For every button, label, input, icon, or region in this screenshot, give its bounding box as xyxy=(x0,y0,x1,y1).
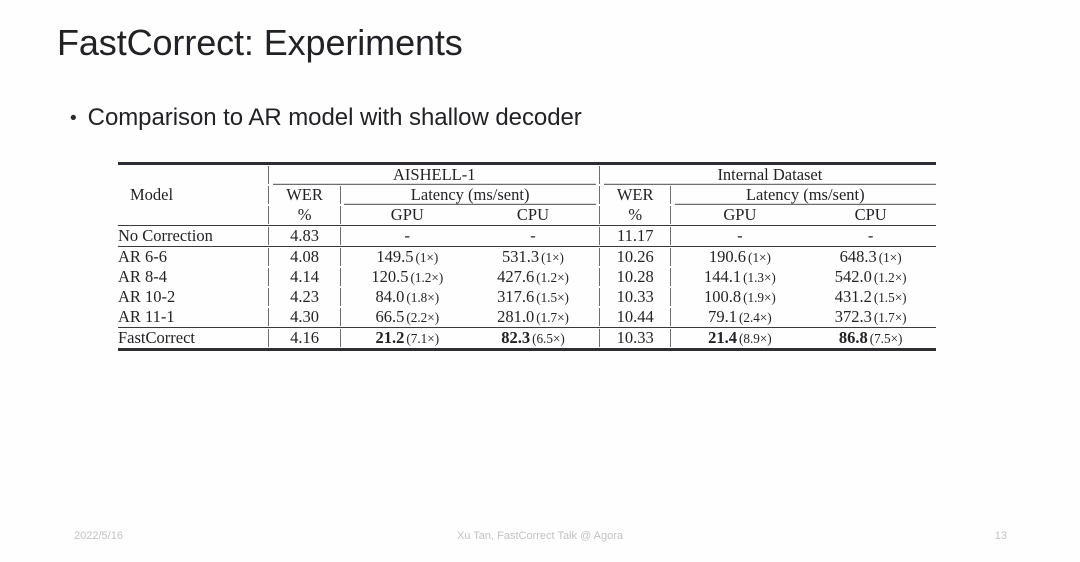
slide: FastCorrect: Experiments • Comparison to… xyxy=(0,0,1080,562)
speedup: (1×) xyxy=(748,250,771,265)
results-table: Model AISHELL-1 Internal Dataset WER Lat… xyxy=(118,162,936,351)
row-vsep-2 xyxy=(337,226,345,247)
speedup: (1.3×) xyxy=(743,270,776,285)
value: 82.3 xyxy=(501,328,530,347)
internal-wer-unit-header: % xyxy=(604,205,667,226)
row-vsep-4 xyxy=(667,307,675,328)
value: 190.6 xyxy=(709,247,746,266)
row-vsep-3 xyxy=(596,247,604,268)
row-internal-gpu: - xyxy=(675,226,806,247)
row-internal-gpu: 79.1(2.4×) xyxy=(675,307,806,328)
value: 431.2 xyxy=(835,287,872,306)
value: 100.8 xyxy=(704,287,741,306)
speedup: (1.5×) xyxy=(874,290,907,305)
vertical-rule-2b xyxy=(337,205,345,226)
row-internal-wer: 10.28 xyxy=(604,267,667,287)
row-internal-cpu: 648.3(1×) xyxy=(805,247,936,268)
row-internal-wer: 10.33 xyxy=(604,328,667,350)
row-aishell-wer: 4.08 xyxy=(273,247,337,268)
value: 144.1 xyxy=(704,267,741,286)
internal-latency-header: Latency (ms/sent) xyxy=(675,185,936,205)
vertical-rule-3b xyxy=(596,185,604,205)
footer-attribution: Xu Tan, FastCorrect Talk @ Agora xyxy=(0,530,1080,542)
row-aishell-cpu: - xyxy=(470,226,596,247)
speedup: (1.5×) xyxy=(536,290,569,305)
vertical-rule-1b xyxy=(265,185,273,205)
row-aishell-cpu: 82.3(6.5×) xyxy=(470,328,596,350)
row-internal-cpu: 542.0(1.2×) xyxy=(805,267,936,287)
speedup: (1×) xyxy=(415,250,438,265)
value: 648.3 xyxy=(840,247,877,266)
table-header-row-datasets: Model AISHELL-1 Internal Dataset xyxy=(118,164,936,186)
row-vsep-4 xyxy=(667,226,675,247)
row-aishell-cpu: 317.6(1.5×) xyxy=(470,287,596,307)
table-row: AR 8-4 4.14 120.5(1.2×) 427.6(1.2×) 10.2… xyxy=(118,267,936,287)
value: 281.0 xyxy=(497,307,534,326)
internal-gpu-header: GPU xyxy=(675,205,806,226)
row-vsep-4 xyxy=(667,247,675,268)
aishell-wer-unit-header: % xyxy=(273,205,337,226)
row-vsep-2 xyxy=(337,328,345,350)
table-row: No Correction 4.83 - - 11.17 - - xyxy=(118,226,936,247)
row-internal-wer: 11.17 xyxy=(604,226,667,247)
row-vsep-1 xyxy=(265,287,273,307)
row-model-label: AR 6-6 xyxy=(118,247,265,268)
value: 21.4 xyxy=(708,328,737,347)
vertical-rule-3 xyxy=(596,164,604,186)
value: 427.6 xyxy=(497,267,534,286)
row-internal-cpu: 431.2(1.5×) xyxy=(805,287,936,307)
row-aishell-wer: 4.83 xyxy=(273,226,337,247)
row-internal-cpu: 372.3(1.7×) xyxy=(805,307,936,328)
speedup: (7.5×) xyxy=(870,331,903,346)
row-vsep-1 xyxy=(265,226,273,247)
row-model-label: AR 10-2 xyxy=(118,287,265,307)
row-internal-cpu: 86.8(7.5×) xyxy=(805,328,936,350)
page-title: FastCorrect: Experiments xyxy=(57,22,463,64)
row-model-label: FastCorrect xyxy=(118,328,265,350)
vertical-rule-4 xyxy=(667,185,675,205)
table-row: AR 6-6 4.08 149.5(1×) 531.3(1×) 10.26 19… xyxy=(118,247,936,268)
row-aishell-gpu: 21.2(7.1×) xyxy=(344,328,470,350)
row-vsep-3 xyxy=(596,226,604,247)
row-aishell-cpu: 427.6(1.2×) xyxy=(470,267,596,287)
speedup: (1.7×) xyxy=(874,310,907,325)
aishell-cpu-header: CPU xyxy=(470,205,596,226)
vertical-rule-2 xyxy=(337,185,345,205)
bullet-item: • Comparison to AR model with shallow de… xyxy=(70,104,582,132)
value: 21.2 xyxy=(376,328,405,347)
row-internal-wer: 10.26 xyxy=(604,247,667,268)
vertical-rule-3c xyxy=(596,205,604,226)
speedup: (1.2×) xyxy=(411,270,444,285)
speedup: (1×) xyxy=(541,250,564,265)
row-aishell-wer: 4.16 xyxy=(273,328,337,350)
row-aishell-gpu: 149.5(1×) xyxy=(344,247,470,268)
vertical-rule-1 xyxy=(265,164,273,186)
speedup: (1×) xyxy=(879,250,902,265)
row-aishell-gpu: 66.5(2.2×) xyxy=(344,307,470,328)
row-vsep-3 xyxy=(596,267,604,287)
speedup: (6.5×) xyxy=(532,331,565,346)
bullet-text: Comparison to AR model with shallow deco… xyxy=(88,104,582,132)
row-internal-gpu: 190.6(1×) xyxy=(675,247,806,268)
aishell-wer-header: WER xyxy=(273,185,337,205)
model-header-cell: Model xyxy=(118,164,265,226)
row-aishell-wer: 4.23 xyxy=(273,287,337,307)
row-model-label: AR 8-4 xyxy=(118,267,265,287)
value: 542.0 xyxy=(835,267,872,286)
speedup: (1.2×) xyxy=(874,270,907,285)
speedup: (7.1×) xyxy=(406,331,439,346)
table-row: AR 10-2 4.23 84.0(1.8×) 317.6(1.5×) 10.3… xyxy=(118,287,936,307)
row-aishell-cpu: 531.3(1×) xyxy=(470,247,596,268)
speedup: (1.8×) xyxy=(406,290,439,305)
row-internal-cpu: - xyxy=(805,226,936,247)
row-aishell-wer: 4.14 xyxy=(273,267,337,287)
speedup: (1.9×) xyxy=(743,290,776,305)
row-vsep-1 xyxy=(265,247,273,268)
row-aishell-gpu: - xyxy=(344,226,470,247)
row-vsep-3 xyxy=(596,307,604,328)
row-vsep-2 xyxy=(337,247,345,268)
speedup: (2.2×) xyxy=(406,310,439,325)
value: 531.3 xyxy=(502,247,539,266)
aishell-gpu-header: GPU xyxy=(344,205,470,226)
speedup: (1.7×) xyxy=(536,310,569,325)
speedup: (2.4×) xyxy=(739,310,772,325)
value: 66.5 xyxy=(376,307,405,326)
dataset-group-aishell: AISHELL-1 xyxy=(273,164,596,186)
row-aishell-wer: 4.30 xyxy=(273,307,337,328)
row-model-label: No Correction xyxy=(118,226,265,247)
aishell-latency-header: Latency (ms/sent) xyxy=(344,185,595,205)
row-internal-gpu: 21.4(8.9×) xyxy=(675,328,806,350)
row-vsep-2 xyxy=(337,307,345,328)
value: 149.5 xyxy=(376,247,413,266)
value: 86.8 xyxy=(839,328,868,347)
speedup: (8.9×) xyxy=(739,331,772,346)
value: 120.5 xyxy=(371,267,408,286)
footer-page-number: 13 xyxy=(995,530,1007,542)
row-internal-wer: 10.44 xyxy=(604,307,667,328)
row-vsep-4 xyxy=(667,267,675,287)
row-model-label: AR 11-1 xyxy=(118,307,265,328)
bullet-marker-icon: • xyxy=(70,109,77,128)
vertical-rule-4b xyxy=(667,205,675,226)
row-vsep-4 xyxy=(667,328,675,350)
table-row: AR 11-1 4.30 66.5(2.2×) 281.0(1.7×) 10.4… xyxy=(118,307,936,328)
row-vsep-2 xyxy=(337,267,345,287)
row-aishell-gpu: 84.0(1.8×) xyxy=(344,287,470,307)
results-table-container: Model AISHELL-1 Internal Dataset WER Lat… xyxy=(118,162,936,351)
row-aishell-cpu: 281.0(1.7×) xyxy=(470,307,596,328)
row-vsep-1 xyxy=(265,267,273,287)
row-vsep-4 xyxy=(667,287,675,307)
row-internal-gpu: 100.8(1.9×) xyxy=(675,287,806,307)
row-vsep-2 xyxy=(337,287,345,307)
dataset-group-internal: Internal Dataset xyxy=(604,164,936,186)
row-internal-gpu: 144.1(1.3×) xyxy=(675,267,806,287)
model-header-label: Model xyxy=(118,185,265,205)
value: 79.1 xyxy=(708,307,737,326)
value: 372.3 xyxy=(835,307,872,326)
row-vsep-3 xyxy=(596,328,604,350)
slide-footer: 2022/5/16 Xu Tan, FastCorrect Talk @ Ago… xyxy=(0,530,1080,548)
vertical-rule-1c xyxy=(265,205,273,226)
value: 317.6 xyxy=(497,287,534,306)
row-internal-wer: 10.33 xyxy=(604,287,667,307)
speedup: (1.2×) xyxy=(536,270,569,285)
internal-cpu-header: CPU xyxy=(805,205,936,226)
row-vsep-3 xyxy=(596,287,604,307)
row-vsep-1 xyxy=(265,307,273,328)
internal-wer-header: WER xyxy=(604,185,667,205)
table-row-fastcorrect: FastCorrect 4.16 21.2(7.1×) 82.3(6.5×) 1… xyxy=(118,328,936,350)
row-vsep-1 xyxy=(265,328,273,350)
value: 84.0 xyxy=(376,287,405,306)
row-aishell-gpu: 120.5(1.2×) xyxy=(344,267,470,287)
